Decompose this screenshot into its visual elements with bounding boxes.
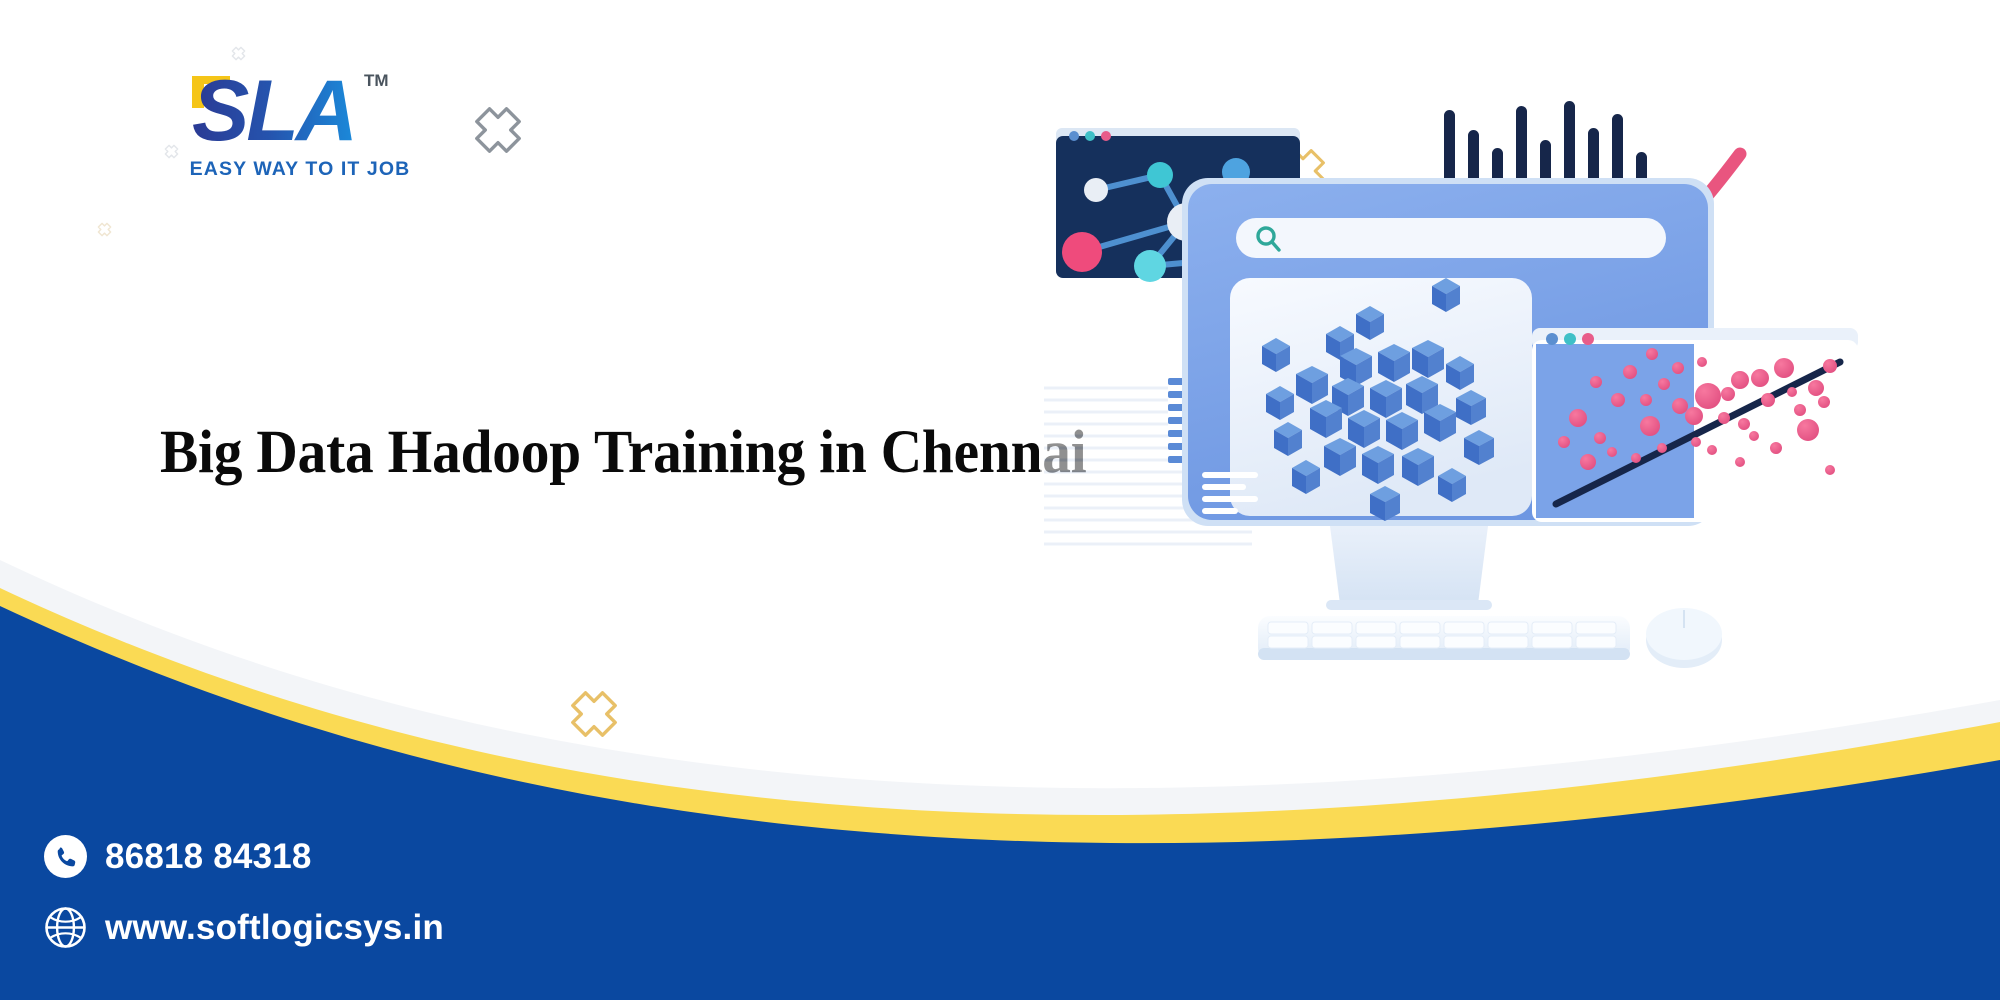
network-node: [1134, 250, 1166, 282]
cross-yellow-bottom-icon: [568, 688, 620, 740]
keyboard[interactable]: [1258, 616, 1630, 660]
sla-logo[interactable]: SLA TM EASY WAY TO IT JOB: [186, 62, 426, 182]
phone-icon: [44, 835, 87, 878]
cross-faint-a-icon: [231, 46, 246, 61]
website-url: www.softlogicsys.in: [105, 908, 444, 948]
globe-icon: [44, 906, 87, 949]
search-bar[interactable]: [1236, 218, 1666, 258]
logo-mark: SLA TM: [186, 62, 426, 162]
computer-mouse[interactable]: [1646, 608, 1722, 668]
logo-tagline: EASY WAY TO IT JOB: [186, 158, 414, 181]
logo-wordmark: SLA: [192, 63, 355, 159]
cross-faint-c-icon: [97, 222, 112, 237]
monitor-base: [1326, 600, 1492, 610]
cross-faint-b-icon: [164, 144, 179, 159]
contact-block: 86818 84318 www.softlogicsys.in: [44, 835, 444, 949]
network-node: [1062, 232, 1102, 272]
contact-phone-row[interactable]: 86818 84318: [44, 835, 444, 878]
logo-trademark: TM: [364, 71, 389, 90]
network-node: [1147, 162, 1173, 188]
monitor-stand: [1330, 526, 1488, 604]
phone-number: 86818 84318: [105, 837, 312, 877]
contact-website-row[interactable]: www.softlogicsys.in: [44, 906, 444, 949]
network-node: [1084, 178, 1108, 202]
cross-gray-top-icon: [472, 104, 524, 156]
big-data-analytics-illustration: [1040, 100, 1960, 740]
scatter-plot-window: [1532, 328, 1858, 522]
marketing-banner: SLA TM EASY WAY TO IT JOB Big Data Hadoo…: [0, 0, 2000, 1000]
page-title: Big Data Hadoop Training in Chennai: [160, 421, 1087, 485]
